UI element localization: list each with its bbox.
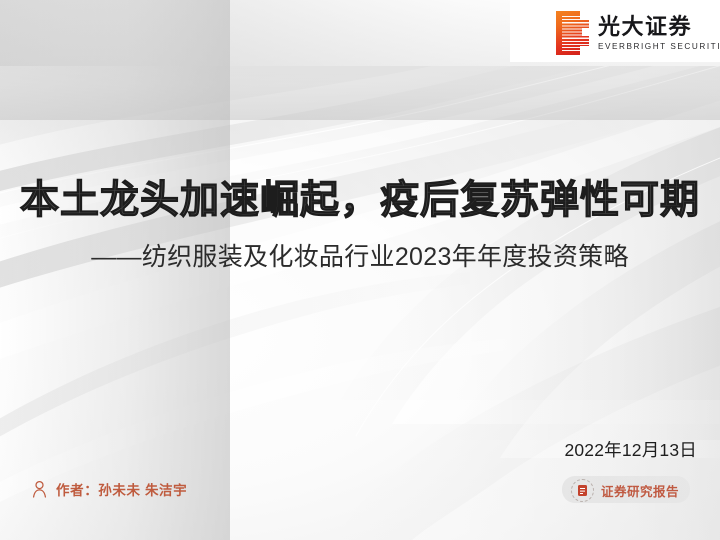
everbright-securities-logo: 光大证券 EVERBRIGHT SECURITIES <box>556 11 720 55</box>
author-label: 作者：孙未未 朱洁宇 <box>56 479 187 499</box>
title-slide: 光大证券 EVERBRIGHT SECURITIES 本土龙头加速崛起，疫后复苏… <box>0 0 720 540</box>
report-badge: 证券研究报告 <box>571 479 679 502</box>
report-badge-label: 证券研究报告 <box>601 481 679 500</box>
publish-date: 2022年12月13日 <box>564 437 697 462</box>
page-subtitle: ——纺织服装及化妆品行业2023年年度投资策略 <box>0 242 720 272</box>
person-icon <box>31 480 48 498</box>
author-row: 作者：孙未未 朱洁宇 <box>31 479 187 499</box>
logo-name-en: EVERBRIGHT SECURITIES <box>598 43 720 51</box>
logo-name-cn: 光大证券 <box>598 15 720 40</box>
page-title: 本土龙头加速崛起，疫后复苏弹性可期 <box>0 178 720 223</box>
document-icon <box>571 479 594 502</box>
title-block: 本土龙头加速崛起，疫后复苏弹性可期 ——纺织服装及化妆品行业2023年年度投资策… <box>0 178 720 272</box>
everbright-e-mark-icon <box>556 11 589 55</box>
